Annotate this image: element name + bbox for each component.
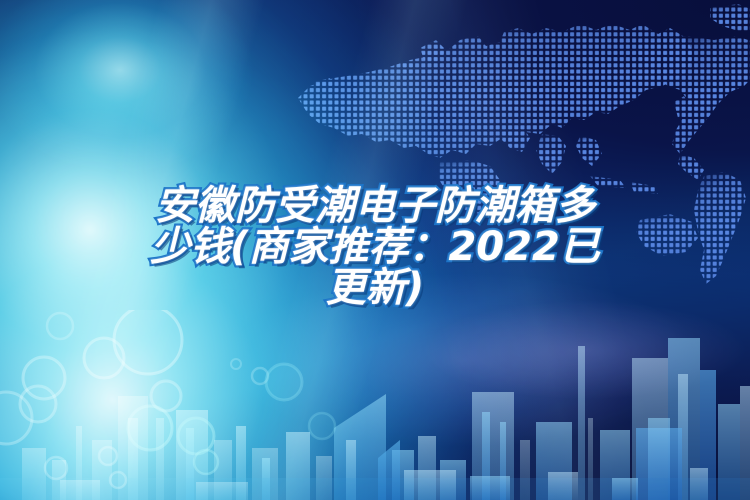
poster-canvas: 安徽防受潮电子防潮箱多 少钱(商家推荐：2022已 更新) [0,0,750,500]
vignette-overlay [0,0,750,500]
